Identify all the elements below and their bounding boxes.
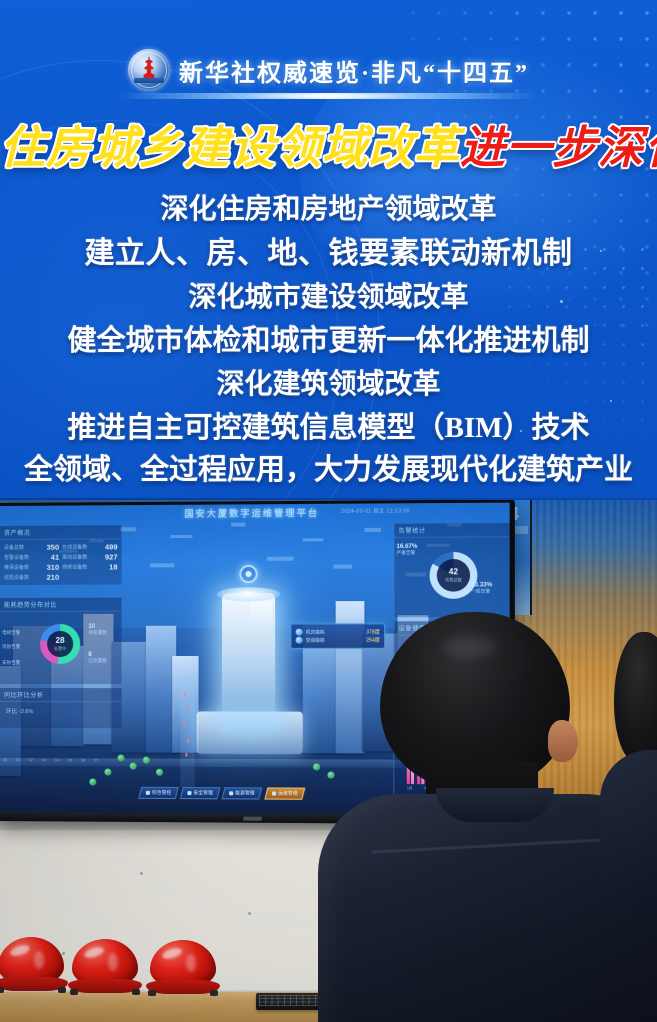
nav-button-comprehensive[interactable]: 综合管控 (138, 787, 179, 799)
wrench-icon (272, 792, 276, 796)
kpi-item: 告警设备数 41 (4, 553, 59, 562)
ring-center-value: 28 (56, 636, 65, 644)
body-line: 全领域、全过程应用，大力发展现代化建筑产业 (0, 456, 657, 485)
helmet-clip (58, 987, 66, 993)
kpi-label: 巡检设备数 (4, 574, 29, 581)
tree (313, 763, 320, 770)
kpi-value: 350 (47, 543, 60, 552)
grid-icon (146, 791, 150, 795)
far-block (334, 565, 353, 569)
page-title-primary: 住房城乡建设领域改革 (0, 123, 460, 173)
dashboard-navbar[interactable]: 综合管控 安全管理 能源管理 运维管理 (140, 787, 304, 800)
dashboard-timestamp: 2024-09-01 周五 12:13:08 (341, 507, 410, 515)
red-safety-helmet (146, 940, 220, 998)
donut-segment-name: 严重告警 (396, 550, 417, 556)
energy-icon (296, 629, 303, 636)
nav-button-label: 安全管理 (194, 790, 214, 796)
helmet-clip (70, 989, 78, 995)
person-ear (548, 720, 578, 762)
vehicle-light (187, 739, 189, 743)
far-block (267, 557, 294, 561)
hair-highlight (444, 636, 496, 658)
page-title-highlight: 进一步深化 (460, 123, 657, 173)
kpi-item: 设备总数 350 (4, 543, 59, 552)
body-line: 深化住房和房地产领域改革 (0, 196, 657, 224)
kpi-label: 待修设备数 (62, 564, 87, 571)
vehicle-light (183, 722, 185, 726)
wall-speck (248, 912, 251, 915)
ring-right-label: 待处置数 (88, 630, 107, 636)
helmet-highlight (34, 951, 44, 969)
kpi-item: 维保设备数 310 (4, 563, 59, 572)
footer-panel-value: 环比 -3.6% (0, 702, 122, 720)
left-footer-panel: 同比环比分析 环比 -3.6% (0, 688, 122, 728)
kpi-item: 在线设备数 499 (62, 542, 117, 551)
logo-banner (134, 78, 164, 83)
kpi-label: 告警设备数 (4, 554, 29, 561)
tree (130, 763, 137, 770)
kpi-grid: 设备总数 350 在线设备数 499 告警设备数 41 离线设备数 (0, 539, 122, 585)
left-asset-panel: 资产概况 设备总数 350 在线设备数 499 告警设备数 41 (0, 525, 122, 585)
kpi-value: 41 (51, 553, 59, 562)
tree (156, 769, 163, 776)
tree (118, 754, 125, 761)
helmet-clip (210, 990, 218, 996)
tree (327, 772, 334, 779)
ring-right-stat: 10 待处置数 (88, 624, 107, 636)
kpi-value: 927 (105, 552, 118, 561)
vehicle-light (185, 753, 187, 757)
vehicle-light (184, 692, 186, 696)
helmet-clip (132, 989, 140, 995)
bolt-icon (230, 791, 234, 795)
left-panel-heading: 资产概况 (0, 525, 122, 540)
ring-center-label: 处置中 (54, 645, 66, 651)
tooltip-label: 机房能耗 (306, 629, 325, 635)
nav-button-safety[interactable]: 安全管理 (180, 787, 221, 799)
donut-segment-name: 一般告警 (471, 588, 492, 594)
timeline-axis: 101112 131415 1617 (3, 758, 98, 762)
ring-legend-label: 电梯告警 (2, 630, 20, 636)
kpi-item: 待修设备数 18 (62, 562, 117, 571)
tooltip-label: 空调能耗 (306, 637, 325, 643)
page-title: 住房城乡建设领域改革进一步深化 (0, 126, 657, 171)
kpi-label: 在线设备数 (62, 544, 87, 551)
helmet-brim (68, 979, 142, 993)
kpi-value: 499 (105, 542, 118, 551)
nav-button-label: 运维管理 (278, 791, 298, 797)
ring-right-label: 已处置数 (88, 658, 107, 664)
right-alarm-panel: 告警统计 42 告警总数 16.67% 严重告警 (393, 523, 509, 617)
road (180, 676, 194, 787)
jacket-collar (436, 788, 554, 822)
donut-segment-label: 16.67% 严重告警 (396, 544, 417, 556)
far-block (170, 535, 192, 538)
tree (104, 768, 111, 775)
ring-legend-label: 消防告警 (2, 644, 20, 650)
far-block (303, 538, 324, 541)
left-ring-panel: 能耗趋势分布对比 28 处置中 电梯告警 消防告警 安防告警 10 (0, 598, 122, 684)
ring-center: 28 处置中 (47, 631, 73, 657)
donut-center: 42 告警总数 (437, 559, 470, 592)
helmet-highlight (186, 954, 196, 972)
wall-speck (140, 872, 143, 875)
far-block (231, 523, 245, 527)
header-divider (118, 93, 538, 99)
location-pin-icon[interactable] (239, 565, 257, 583)
helmet-clip (148, 990, 156, 996)
kpi-label: 离线设备数 (62, 554, 87, 561)
poster-body: 深化住房和房地产领域改革 建立人、房、地、钱要素联动新机制 深化城市建设领域改革… (0, 196, 657, 485)
body-line: 建立人、房、地、钱要素联动新机制 (0, 239, 657, 269)
kpi-value: 18 (109, 562, 117, 571)
nav-button-label: 综合管控 (152, 790, 171, 796)
kpi-item: 离线设备数 927 (62, 552, 117, 561)
body-line: 深化建筑领域改革 (0, 371, 657, 399)
nav-button-label: 能源管理 (236, 790, 256, 796)
kpi-label: 维保设备数 (4, 564, 29, 571)
ring-right-stat: 8 已处置数 (88, 652, 107, 664)
ring-legend-label: 安防告警 (2, 660, 20, 666)
vehicle-light (186, 706, 188, 710)
nav-button-operations[interactable]: 运维管理 (264, 787, 305, 799)
far-block (364, 528, 381, 532)
nav-button-energy[interactable]: 能源管理 (222, 787, 263, 799)
body-line: 推进自主可控建筑信息模型（BIM）技术 (0, 414, 657, 443)
xinhua-pagoda-logo (128, 49, 170, 91)
footer-panel-heading: 同比环比分析 (0, 688, 122, 702)
helmet-clip (0, 987, 4, 993)
donut-center-label: 告警总数 (445, 577, 462, 583)
donut-segment-label: 83.33% 一般告警 (471, 582, 492, 594)
poster-stage: 新华社权威速览·非凡“十四五” 住房城乡建设领域改革进一步深化 深化住房和房地产… (0, 0, 657, 1022)
helmet-brim (146, 980, 220, 994)
poster-photo-seam (0, 498, 657, 500)
alarm-ring-chart: 28 处置中 (40, 624, 80, 664)
header-title: 新华社权威速览·非凡“十四五” (179, 53, 529, 88)
hvac-icon (296, 637, 303, 644)
red-safety-helmet (68, 939, 142, 997)
body-line: 健全城市体检和城市更新一体化推进机制 (0, 327, 657, 356)
alarm-panel-heading: 告警统计 (394, 523, 509, 538)
helmet-highlight (108, 953, 118, 971)
ring-panel-heading: 能耗趋势分布对比 (0, 598, 122, 612)
tree (143, 757, 150, 764)
second-person-body (600, 750, 657, 910)
tv-brand-logo (243, 817, 261, 821)
kpi-value: 310 (47, 563, 60, 572)
kpi-item: 巡检设备数 210 (4, 573, 59, 582)
donut-center-value: 42 (449, 568, 458, 576)
photograph: 24 (0, 500, 657, 1022)
red-safety-helmet (0, 937, 68, 995)
body-line: 深化城市建设领域改革 (0, 284, 657, 312)
kpi-value: 210 (47, 573, 60, 582)
far-block (150, 563, 174, 567)
kpi-label: 设备总数 (4, 544, 24, 551)
poster-header: 新华社权威速览·非凡“十四五” (0, 44, 657, 96)
shield-icon (188, 791, 192, 795)
far-block (120, 527, 136, 531)
tree (89, 778, 96, 785)
highlighted-building[interactable] (222, 593, 275, 725)
